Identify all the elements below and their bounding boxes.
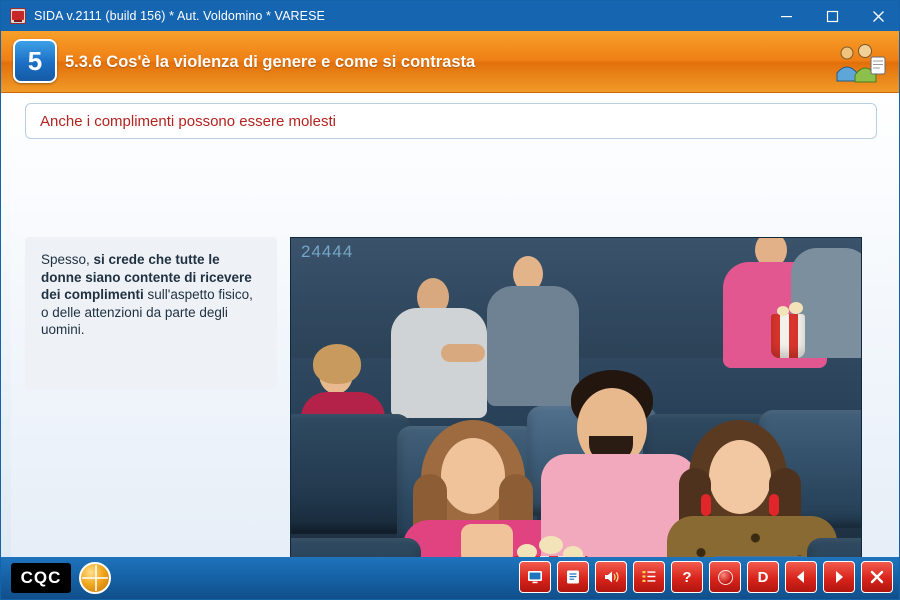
application-window: SIDA v.2111 (build 156) * Aut. Voldomino… — [0, 0, 900, 600]
users-group-icon — [831, 41, 887, 83]
chapter-badge: 5 — [13, 39, 57, 83]
cqc-logo: CQC — [11, 563, 71, 593]
sida-app-icon — [10, 8, 26, 24]
audio-button[interactable] — [595, 561, 627, 593]
photo-scene — [291, 238, 861, 600]
lesson-content: Anche i complimenti possono essere moles… — [1, 93, 900, 559]
globe-icon[interactable] — [79, 562, 111, 594]
record-button[interactable] — [709, 561, 741, 593]
bottom-toolbar: CQC — [1, 557, 900, 599]
presentation-button[interactable] — [519, 561, 551, 593]
previous-button[interactable] — [785, 561, 817, 593]
lesson-header: 5 5.3.6 Cos'è la violenza di genere e co… — [1, 31, 900, 93]
help-button[interactable]: ? — [671, 561, 703, 593]
dictionary-button-label: D — [758, 570, 769, 585]
close-icon[interactable] — [855, 1, 900, 31]
maximize-icon[interactable] — [809, 1, 855, 31]
page-title: 5.3.6 Cos'è la violenza di genere e come… — [65, 31, 475, 93]
window-title: SIDA v.2111 (build 156) * Aut. Voldomino… — [34, 9, 325, 23]
lesson-subtitle: Anche i complimenti possono essere moles… — [40, 113, 336, 130]
minimize-icon[interactable] — [763, 1, 809, 31]
toolbar-buttons: ? D — [519, 561, 893, 593]
lesson-text-panel: Spesso, si crede che tutte le donne sian… — [25, 237, 277, 389]
next-button[interactable] — [823, 561, 855, 593]
record-dot-icon — [718, 570, 733, 585]
subtitle-panel: Anche i complimenti possono essere moles… — [25, 103, 877, 139]
cinema-audience-photo: 24444 — [290, 237, 862, 600]
image-watermark: 24444 — [301, 242, 353, 262]
index-button[interactable] — [633, 561, 665, 593]
lesson-text-lead: Spesso, — [41, 252, 94, 267]
title-bar: SIDA v.2111 (build 156) * Aut. Voldomino… — [1, 1, 900, 31]
close-button[interactable] — [861, 561, 893, 593]
window-controls — [763, 1, 900, 31]
document-button[interactable] — [557, 561, 589, 593]
help-button-label: ? — [682, 570, 691, 585]
dictionary-button[interactable]: D — [747, 561, 779, 593]
